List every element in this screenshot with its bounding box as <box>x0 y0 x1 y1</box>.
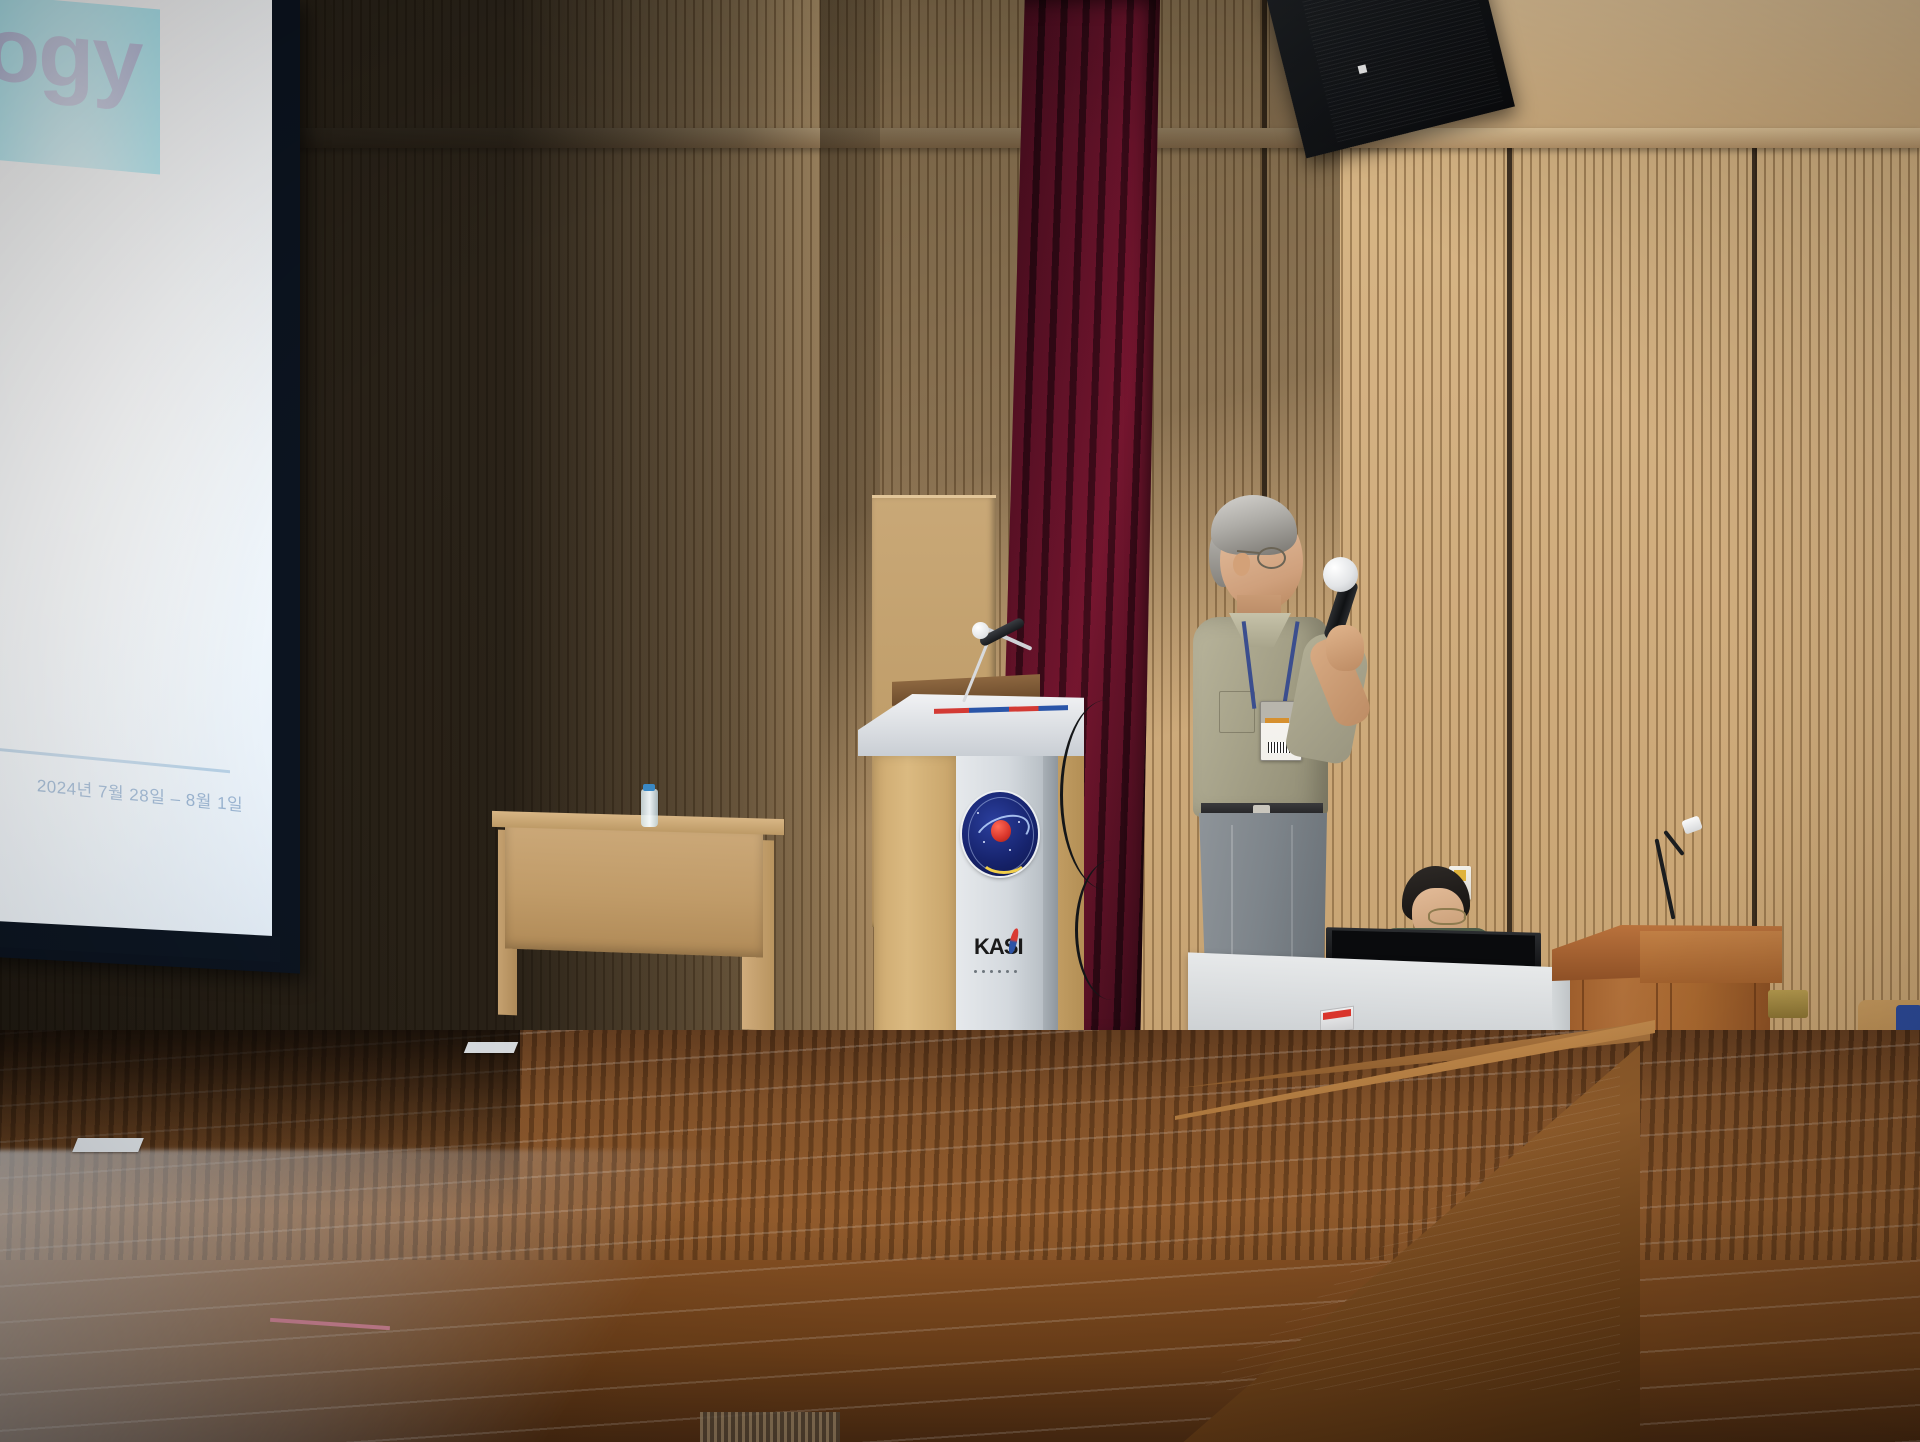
wall-seam <box>1507 0 1512 1080</box>
bottle-cap <box>643 784 655 791</box>
kasi-emblem-icon <box>962 792 1038 876</box>
glasses-icon <box>1257 547 1286 569</box>
wall-seam <box>1752 0 1757 1080</box>
auditorium-photo: nology 2024년 7월 28일 – 8월 1일 KASI <box>0 0 1920 1442</box>
side-desk-front <box>505 823 763 957</box>
glasses-icon <box>1428 908 1466 925</box>
paper-on-floor <box>464 1042 518 1053</box>
projection-screen: nology 2024년 7월 28일 – 8월 1일 <box>0 0 272 938</box>
hand <box>1326 625 1364 671</box>
ear <box>1233 553 1250 576</box>
slide-date-text: 2024년 7월 28일 – 8월 1일 <box>10 769 270 819</box>
shirt-pocket <box>1219 691 1255 733</box>
slide-divider-rule <box>0 741 230 773</box>
floor-sheen <box>0 1150 747 1442</box>
water-bottle <box>641 789 658 827</box>
emblem-star <box>1018 821 1020 823</box>
floor-grate <box>700 1412 840 1442</box>
emblem-planet <box>991 820 1011 842</box>
handheld-mic-head <box>1323 557 1358 592</box>
podium-wood-panel-left <box>874 754 958 1052</box>
podium-dot-row <box>974 970 1017 973</box>
brass-wall-plate <box>1768 990 1808 1018</box>
mic-cable <box>1075 860 1148 1000</box>
emblem-arc <box>979 841 1029 874</box>
paper-on-floor <box>72 1138 144 1152</box>
podium-mic-head <box>972 622 989 639</box>
hair <box>1211 495 1297 555</box>
badge-band <box>1265 718 1289 723</box>
lectern-top-face <box>1640 931 1782 983</box>
slide-title-text: nology <box>0 0 152 116</box>
